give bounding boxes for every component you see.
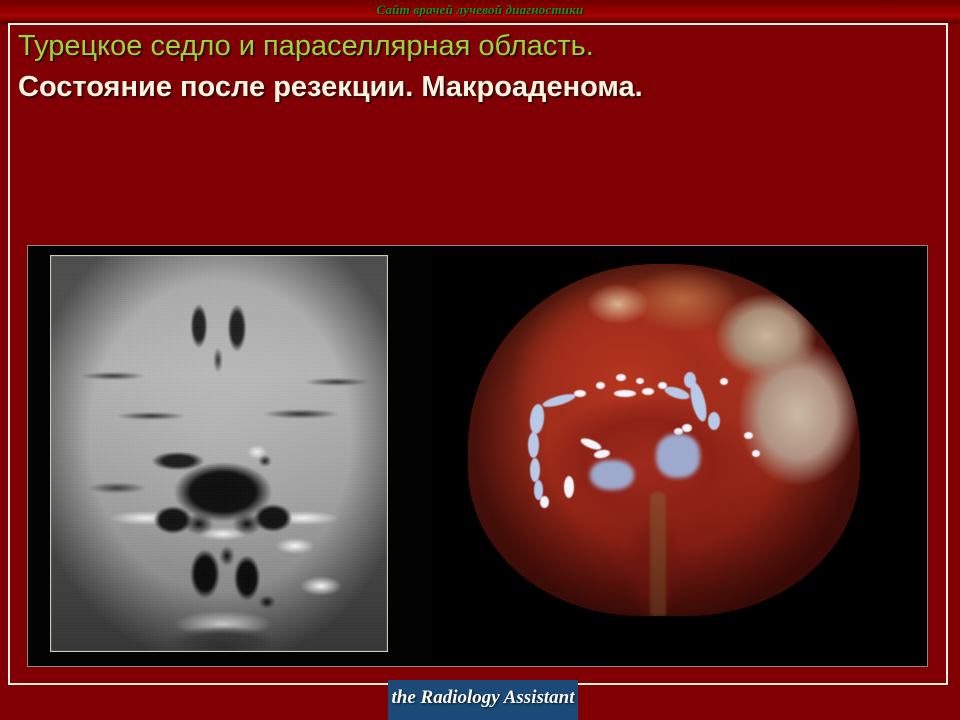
highlight-streak bbox=[528, 432, 539, 458]
tissue-stalk bbox=[650, 492, 666, 616]
slide: Сайт врачей лучевой диагностики Турецкое… bbox=[0, 0, 960, 720]
highlight-streak bbox=[614, 390, 636, 397]
highlight-streak bbox=[687, 381, 709, 423]
page-subtitle: Состояние после резекции. Макроаденома. bbox=[18, 68, 918, 106]
endoscopic-pixels bbox=[468, 264, 860, 616]
image-panel bbox=[27, 245, 928, 667]
highlight-streak bbox=[528, 403, 545, 434]
highlight-streak bbox=[593, 449, 610, 460]
specular-patch bbox=[656, 434, 700, 478]
highlight-dot bbox=[636, 378, 644, 384]
highlight-dot bbox=[642, 388, 654, 395]
page-title: Турецкое седло и параселлярная область. bbox=[18, 28, 918, 64]
radiology-assistant-logo-text: the Radiology Assistant bbox=[388, 687, 578, 709]
highlight-dot bbox=[574, 390, 586, 397]
highlight-dot bbox=[682, 424, 692, 432]
highlight-dot bbox=[616, 374, 626, 381]
specular-patch bbox=[590, 460, 634, 490]
highlight-dot bbox=[708, 412, 720, 430]
highlight-streak bbox=[541, 391, 576, 409]
mri-noise-overlay bbox=[51, 256, 387, 651]
highlight-dot bbox=[540, 496, 549, 508]
heading-block: Турецкое седло и параселлярная область. … bbox=[18, 28, 918, 106]
endoscopic-resection-cavity-image bbox=[432, 248, 921, 662]
highlight-dot bbox=[744, 432, 753, 439]
highlight-dot bbox=[596, 382, 605, 389]
site-title: Сайт врачей лучевой диагностики bbox=[0, 2, 960, 18]
mri-coronal-sella-image bbox=[50, 255, 388, 652]
highlight-dot bbox=[752, 450, 760, 457]
highlight-dot bbox=[720, 378, 728, 385]
image-panel-inner bbox=[28, 246, 927, 666]
radiology-assistant-logo[interactable]: the Radiology Assistant bbox=[388, 680, 578, 720]
highlight-streak bbox=[564, 476, 574, 498]
highlight-streak bbox=[530, 458, 540, 482]
